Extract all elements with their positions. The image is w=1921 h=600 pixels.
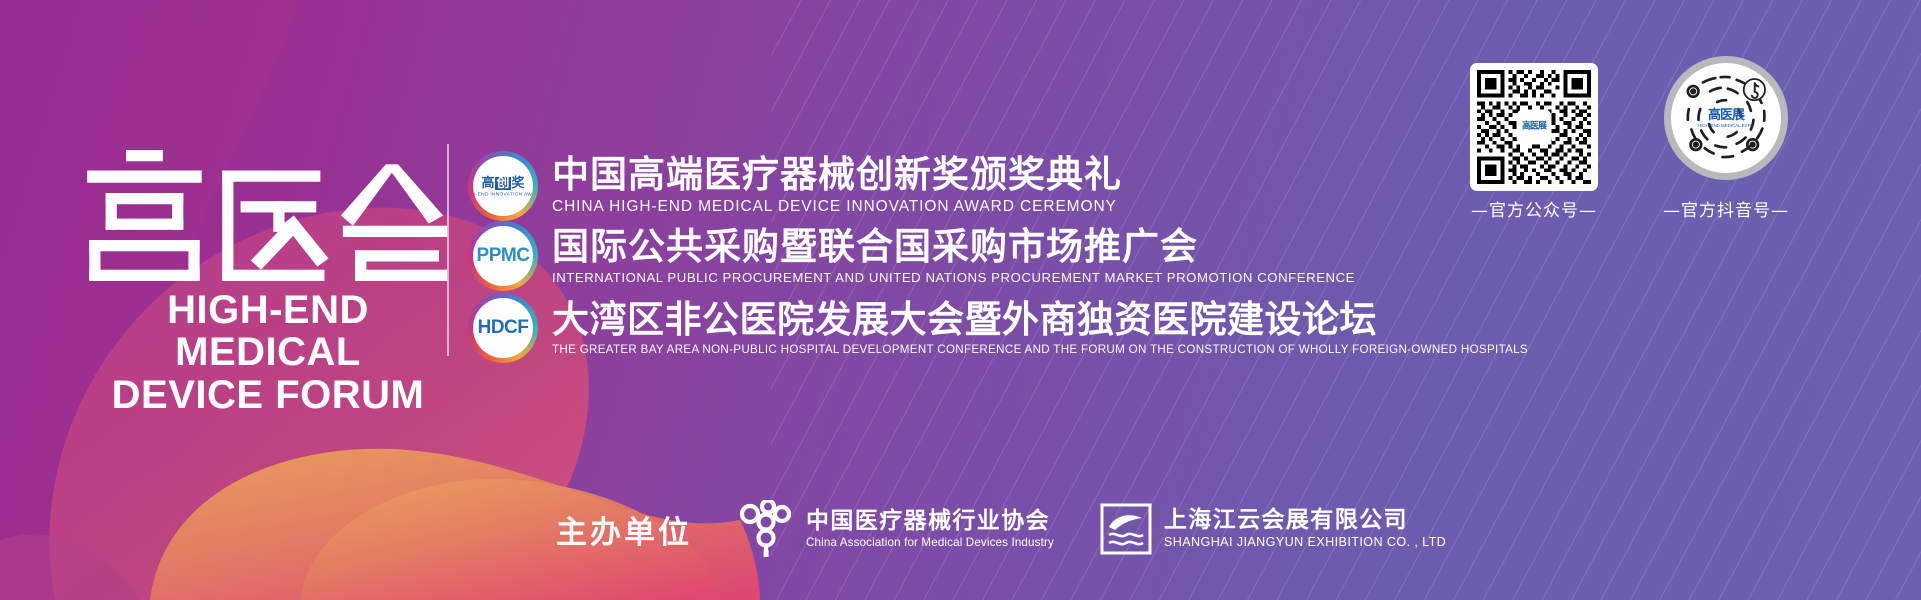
forum-logo: HIGH-END MEDICAL DEVICE FORUM <box>78 148 458 416</box>
wechat-qr-caption: —官方公众号— <box>1452 196 1616 221</box>
douyin-qr-caption: —官方抖音号— <box>1638 196 1814 221</box>
event-banner: HIGH-END MEDICAL DEVICE FORUM 高 创 奖 HIGH… <box>0 0 1921 600</box>
conference-title-cn: 中国高端医疗器械创新奖颁奖典礼 <box>552 155 1122 195</box>
vertical-divider <box>447 144 449 356</box>
douyin-note-icon <box>1744 79 1765 100</box>
badge-ppmc-icon: PPMC <box>468 221 538 291</box>
badge-char-2: 创 <box>495 177 510 190</box>
conference-row-ppmc: PPMC 国际公共采购暨联合国采购市场推广会 INTERNATIONAL PUB… <box>468 222 1528 290</box>
gaoyihui-logo-icon <box>79 148 457 283</box>
douyin-qr-center-logo: 高医展 HIGH-END MEDICAL EXPO <box>1704 109 1747 128</box>
badge-hdcf-icon: HDCF <box>468 293 538 363</box>
badge-sub-label: HIGH-END INNOVATION AWARD <box>473 191 533 196</box>
organizer-name-cn: 上海江云会展有限公司 <box>1164 507 1446 533</box>
organizers-label: 主办单位 <box>556 507 692 552</box>
conference-row-award: 高 创 奖 HIGH-END INNOVATION AWARD 中国高端医疗器械… <box>468 152 1528 220</box>
forum-logo-en-line1: HIGH-END MEDICAL <box>78 289 458 374</box>
badge-ppmc-label: PPMC <box>477 245 530 267</box>
organizer-camdi: 中国医疗器械行业协会 China Association for Medical… <box>738 500 1054 558</box>
badge-hdcf-label: HDCF <box>478 317 529 339</box>
conference-title-cn: 大湾区非公医院发展大会暨外商独资医院建设论坛 <box>552 300 1528 340</box>
badge-gaochuangjiang-icon: 高 创 奖 HIGH-END INNOVATION AWARD <box>468 151 538 221</box>
conference-list: 高 创 奖 HIGH-END INNOVATION AWARD 中国高端医疗器械… <box>468 152 1528 366</box>
conference-title-en: INTERNATIONAL PUBLIC PROCUREMENT AND UNI… <box>552 270 1355 286</box>
organizer-name-en: China Association for Medical Devices In… <box>806 536 1054 550</box>
badge-char-3: 奖 <box>512 177 525 190</box>
wechat-qr-center-logo: 高医展 <box>1519 112 1550 143</box>
organizer-name-cn: 中国医疗器械行业协会 <box>806 508 1054 534</box>
organizers-section: 主办单位 中国医疗器械行业协会 China Association for Me… <box>556 500 1492 558</box>
badge-char-1: 高 <box>481 177 494 190</box>
jiangyun-wave-icon <box>1100 503 1152 555</box>
forum-logo-en-line2: DEVICE FORUM <box>78 374 458 416</box>
conference-row-hdcf: HDCF 大湾区非公医院发展大会暨外商独资医院建设论坛 THE GREATER … <box>468 292 1528 364</box>
camdi-knot-icon <box>738 500 794 558</box>
organizer-name-en: SHANGHAI JIANGYUN EXHIBITION CO. , LTD <box>1164 535 1446 551</box>
wechat-qr-code[interactable]: 高医展 <box>1470 63 1598 191</box>
conference-title-en: THE GREATER BAY AREA NON-PUBLIC HOSPITAL… <box>552 343 1528 357</box>
organizer-jiangyun: 上海江云会展有限公司 SHANGHAI JIANGYUN EXHIBITION … <box>1100 503 1446 555</box>
conference-title-en: CHINA HIGH-END MEDICAL DEVICE INNOVATION… <box>552 198 1122 217</box>
douyin-qr-code[interactable]: 高医展 HIGH-END MEDICAL EXPO <box>1664 56 1788 180</box>
conference-title-cn: 国际公共采购暨联合国采购市场推广会 <box>552 227 1355 267</box>
